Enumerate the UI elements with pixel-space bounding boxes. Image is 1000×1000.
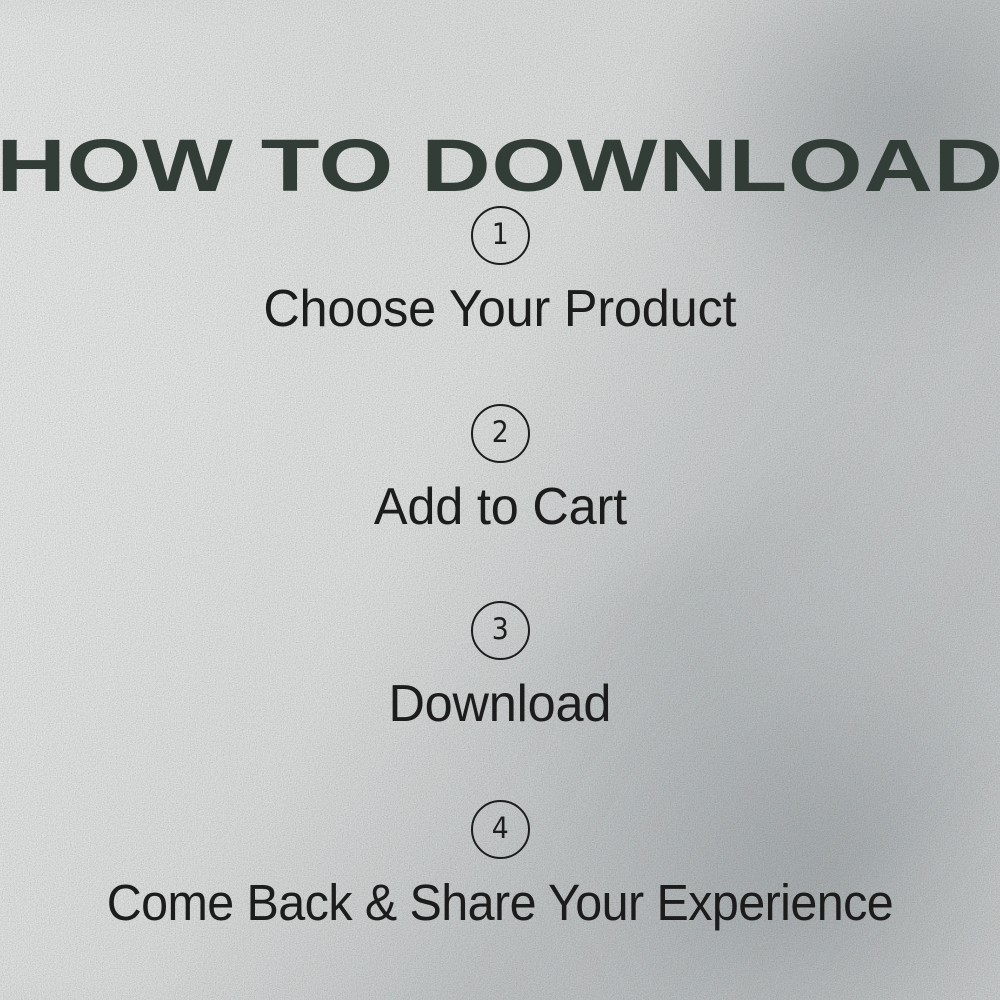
step-badge-3: 3 bbox=[471, 601, 530, 660]
step-badge-1: 1 bbox=[471, 206, 530, 265]
step-item-4: 4 Come Back & Share Your Experience bbox=[0, 800, 1000, 928]
poster-content: HOW TO DOWNLOAD 1 Choose Your Product 2 … bbox=[0, 0, 1000, 1000]
poster-canvas: HOW TO DOWNLOAD 1 Choose Your Product 2 … bbox=[0, 0, 1000, 1000]
step-item-3: 3 Download bbox=[0, 601, 1000, 730]
step-label-2: Add to Cart bbox=[373, 481, 626, 533]
step-item-1: 1 Choose Your Product bbox=[0, 206, 1000, 335]
step-badge-2: 2 bbox=[471, 404, 530, 463]
step-number-3: 3 bbox=[492, 615, 509, 644]
step-label-1: Choose Your Product bbox=[263, 283, 736, 335]
step-number-2: 2 bbox=[492, 418, 509, 447]
step-number-4: 4 bbox=[492, 814, 509, 843]
step-item-2: 2 Add to Cart bbox=[0, 404, 1000, 533]
step-badge-4: 4 bbox=[471, 800, 530, 859]
step-number-1: 1 bbox=[492, 220, 509, 249]
steps-list: 1 Choose Your Product 2 Add to Cart 3 Do… bbox=[0, 206, 1000, 928]
step-label-3: Download bbox=[389, 678, 612, 730]
step-label-4: Come Back & Share Your Experience bbox=[107, 877, 893, 928]
page-title: HOW TO DOWNLOAD bbox=[0, 129, 1000, 203]
